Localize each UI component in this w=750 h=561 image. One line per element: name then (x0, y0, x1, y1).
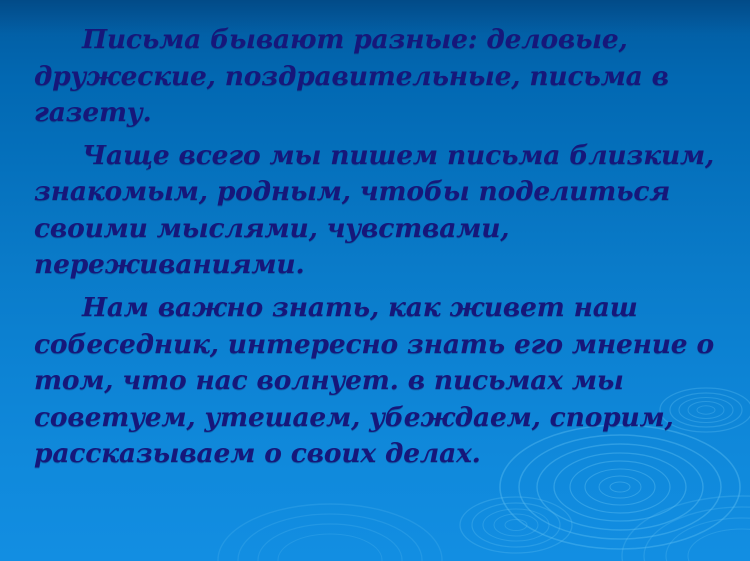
water-ripple-bottom-left (218, 504, 442, 561)
presentation-slide: Письма бывают разные: деловые, дружеские… (0, 0, 750, 561)
slide-text-body: Письма бывают разные: деловые, дружеские… (0, 22, 750, 473)
paragraph-2: Чаще всего мы пишем письма близким, знак… (34, 138, 724, 284)
paragraph-1: Письма бывают разные: деловые, дружеские… (34, 22, 724, 132)
water-ripple-small-mid (460, 497, 572, 553)
water-ripple-bottom-right (622, 496, 750, 561)
paragraph-3: Нам важно знать, как живет наш собеседни… (34, 290, 724, 473)
